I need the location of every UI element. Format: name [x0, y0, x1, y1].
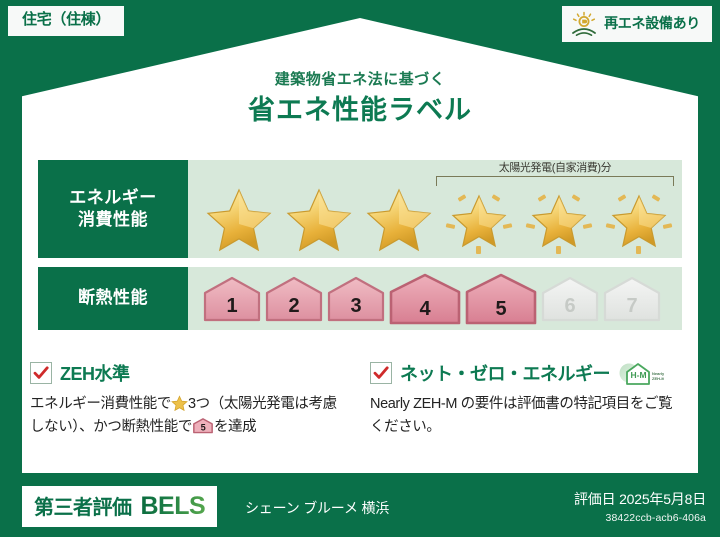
energy-performance-header: エネルギー 消費性能: [38, 160, 188, 258]
insulation-performance-body: 1 2 3 4: [188, 267, 682, 330]
insulation-grade-scale: 1 2 3 4: [202, 267, 682, 330]
star-filled: [360, 184, 438, 256]
label-footer: 第三者評価 BELS シェーン ブルーメ 横浜 評価日 2025年5月8日 38…: [0, 475, 720, 537]
insulation-header-line1: 断熱性能: [78, 287, 148, 309]
criteria-zeh-column: ZEH水準 エネルギー消費性能で3つ（太陽光発電は考慮しない）、かつ断熱性能で5…: [30, 360, 360, 440]
inline-star-icon: [171, 395, 188, 411]
solar-bracket: [436, 176, 674, 186]
criteria-nzeb-title: ネット・ゼロ・エネルギー: [400, 360, 610, 386]
building-name: シェーン ブルーメ 横浜: [245, 498, 389, 518]
star-solar-sparkle: [440, 184, 518, 256]
svg-text:ZEH-M: ZEH-M: [652, 376, 664, 381]
sun-house-icon: [570, 11, 598, 37]
star-solar-sparkle: [520, 184, 598, 256]
criteria-section: ZEH水準 エネルギー消費性能で3つ（太陽光発電は考慮しない）、かつ断熱性能で5…: [30, 360, 690, 440]
insulation-grade-badge: 1: [202, 275, 262, 323]
evaluation-date-label: 評価日: [574, 491, 615, 507]
svg-text:H-M: H-M: [630, 370, 646, 380]
renewable-equipment-badge: 再エネ設備あり: [562, 6, 712, 42]
svg-text:5: 5: [201, 423, 206, 433]
energy-performance-label: 住宅（住棟） 再エネ設備あり 建築物省エネ法に基づく 省エネ性能ラベル: [0, 0, 720, 537]
insulation-grade-badge: 3: [326, 275, 386, 323]
evaluation-date-value: 2025年5月8日: [619, 491, 706, 507]
label-subtitle: 建築物省エネ法に基づく: [0, 68, 720, 89]
inline-grade-badge: 5: [192, 417, 214, 434]
renewable-badge-label: 再エネ設備あり: [604, 16, 700, 31]
insulation-grade-badge-active: 4: [388, 272, 462, 326]
star-filled: [200, 184, 278, 256]
criteria-nzeb-column: ネット・ゼロ・エネルギー H-M Nearly ZEH-M Nearly ZEH…: [360, 360, 690, 440]
criteria-zeh-title: ZEH水準: [60, 360, 130, 386]
evaluation-info: 評価日 2025年5月8日 38422ccb-acb6-406a: [574, 489, 706, 524]
checkbox-checked-icon: [370, 362, 392, 384]
energy-header-line2: 消費性能: [78, 209, 148, 231]
insulation-performance-row: 断熱性能 1 2 3: [38, 267, 682, 330]
insulation-grade-badge-active: 5: [464, 272, 538, 326]
star-solar-sparkle: [600, 184, 678, 256]
evaluation-id: 38422ccb-acb6-406a: [574, 512, 706, 524]
evaluation-date: 評価日 2025年5月8日: [574, 489, 706, 509]
grade-label: 2: [288, 295, 299, 318]
insulation-grade-badge: 2: [264, 275, 324, 323]
solar-annotation: 太陽光発電(自家消費)分: [436, 162, 674, 186]
solar-annotation-label: 太陽光発電(自家消費)分: [436, 162, 674, 174]
grade-label: 4: [419, 298, 430, 321]
insulation-performance-header: 断熱性能: [38, 267, 188, 330]
insulation-grade-badge-inactive: 6: [540, 275, 600, 323]
criteria-zeh-header: ZEH水準: [30, 360, 346, 386]
criteria-zeh-text-1: エネルギー消費性能で: [30, 396, 171, 412]
bels-jp-label: 第三者評価: [34, 491, 132, 520]
star-filled: [280, 184, 358, 256]
criteria-nzeb-text: Nearly ZEH-M の要件は評価書の特記項目をご覧ください。: [370, 393, 676, 440]
checkbox-checked-icon: [30, 362, 52, 384]
energy-performance-row: エネルギー 消費性能 太陽光発電(自家消費)分: [38, 160, 682, 258]
zeh-m-logo-icon: H-M Nearly ZEH-M: [618, 360, 664, 386]
criteria-nzeb-header: ネット・ゼロ・エネルギー H-M Nearly ZEH-M: [370, 360, 676, 386]
grade-label: 1: [226, 295, 237, 318]
grade-label: 5: [495, 298, 506, 321]
energy-star-rating: [188, 184, 682, 256]
energy-performance-body: 太陽光発電(自家消費)分: [188, 160, 682, 258]
grade-label: 6: [564, 295, 575, 318]
grade-label: 7: [626, 295, 637, 318]
grade-label: 3: [350, 295, 361, 318]
energy-header-line1: エネルギー: [69, 187, 157, 209]
bels-certification-plate: 第三者評価 BELS: [22, 486, 217, 527]
label-title: 省エネ性能ラベル: [0, 88, 720, 127]
housing-type-tag: 住宅（住棟）: [8, 6, 124, 36]
bels-logo-text: BELS: [141, 492, 206, 521]
criteria-zeh-text-3: を達成: [214, 419, 256, 435]
insulation-grade-badge-inactive: 7: [602, 275, 662, 323]
housing-type-label: 住宅（住棟）: [22, 11, 110, 28]
criteria-zeh-text: エネルギー消費性能で3つ（太陽光発電は考慮しない）、かつ断熱性能で5を達成: [30, 393, 346, 440]
